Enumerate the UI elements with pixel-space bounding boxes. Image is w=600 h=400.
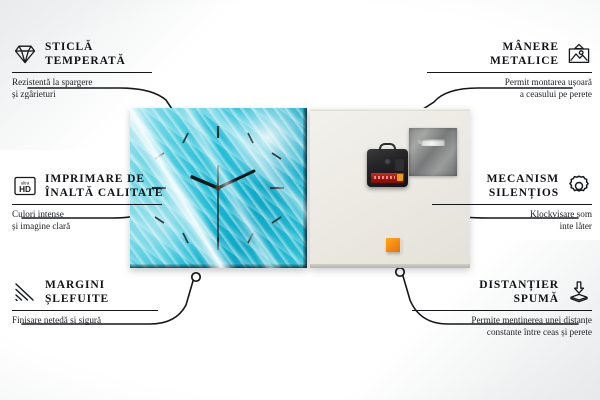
press-down-pad-icon bbox=[566, 279, 592, 305]
feature-mechanism-title: MECANISMSILENȚIOS bbox=[487, 172, 559, 200]
back-panel-top-edge bbox=[310, 108, 470, 111]
feature-edges-head: MARGINIȘLEFUITE bbox=[12, 278, 158, 306]
ultra-hd-icon: ultra HD bbox=[12, 173, 38, 199]
feature-edges: MARGINIȘLEFUITE Finisare netedă și sigur… bbox=[12, 278, 158, 327]
picture-hanger-icon bbox=[566, 41, 592, 67]
feature-handles-rule bbox=[427, 72, 592, 73]
feature-spacer-subtitle: Permite menținerea unei distanțeconstant… bbox=[412, 315, 592, 338]
movement-hanging-bail bbox=[379, 143, 396, 153]
feature-mechanism-subtitle: Klockvisare sominte låter bbox=[432, 209, 592, 232]
movement-shaft bbox=[384, 158, 391, 165]
feature-spacer-head: DISTANȚIERSPUMĂ bbox=[412, 278, 592, 306]
gear-icon bbox=[566, 173, 592, 199]
svg-text:HD: HD bbox=[19, 185, 31, 194]
glass-edge-right bbox=[303, 108, 307, 268]
glass-edge-bottom bbox=[130, 264, 307, 268]
battery-positive-terminal bbox=[397, 174, 403, 181]
metal-hanger-plate bbox=[409, 128, 457, 176]
feature-spacer-title: DISTANȚIERSPUMĂ bbox=[479, 278, 559, 306]
feature-print-rule bbox=[12, 204, 162, 205]
battery bbox=[371, 173, 404, 183]
back-panel-bottom-edge bbox=[310, 264, 470, 268]
feature-spacer-rule bbox=[412, 310, 592, 311]
movement-notch bbox=[395, 159, 404, 171]
feature-handles-title: MÂNEREMETALICE bbox=[490, 40, 559, 68]
polished-edges-icon bbox=[12, 279, 38, 305]
feature-mechanism-rule bbox=[432, 204, 592, 205]
quartz-movement bbox=[367, 149, 408, 187]
feature-edges-subtitle: Finisare netedă și sigură bbox=[12, 315, 158, 327]
feature-glass-head: STICLĂTEMPERATĂ bbox=[12, 40, 152, 68]
feature-print-title: IMPRIMARE DEÎNALTĂ CALITATE bbox=[45, 172, 163, 200]
feature-glass-subtitle: Rezistentă la spargereși zgârieturi bbox=[12, 77, 152, 100]
feature-print-head: ultra HD IMPRIMARE DEÎNALTĂ CALITATE bbox=[12, 172, 162, 200]
feature-mechanism-head: MECANISMSILENȚIOS bbox=[432, 172, 592, 200]
feature-glass-rule bbox=[12, 72, 152, 73]
feature-edges-title: MARGINIȘLEFUITE bbox=[45, 278, 109, 306]
foam-spacer-shadow bbox=[400, 240, 403, 254]
feature-print-subtitle: Culori intenseși imagine clară bbox=[12, 209, 162, 232]
feature-glass-title: STICLĂTEMPERATĂ bbox=[45, 40, 126, 68]
feature-handles: MÂNEREMETALICE Permit montarea ușoarăa c… bbox=[427, 40, 592, 100]
feature-handles-head: MÂNEREMETALICE bbox=[427, 40, 592, 68]
battery-label-stripes bbox=[374, 176, 395, 179]
foam-spacer bbox=[386, 238, 400, 252]
feature-spacer: DISTANȚIERSPUMĂ Permite menținerea unei … bbox=[412, 278, 592, 338]
product-photo bbox=[130, 108, 470, 268]
diamond-icon bbox=[12, 41, 38, 67]
feature-glass: STICLĂTEMPERATĂ Rezistentă la spargereși… bbox=[12, 40, 152, 100]
feature-print: ultra HD IMPRIMARE DEÎNALTĂ CALITATE Cul… bbox=[12, 172, 162, 232]
hanger-slot bbox=[421, 139, 445, 146]
infographic-canvas: STICLĂTEMPERATĂ Rezistentă la spargereși… bbox=[0, 0, 600, 400]
feature-mechanism: MECANISMSILENȚIOS Klockvisare sominte lå… bbox=[432, 172, 592, 232]
feature-handles-subtitle: Permit montarea ușoarăa ceasului pe pere… bbox=[427, 77, 592, 100]
feature-edges-rule bbox=[12, 310, 158, 311]
